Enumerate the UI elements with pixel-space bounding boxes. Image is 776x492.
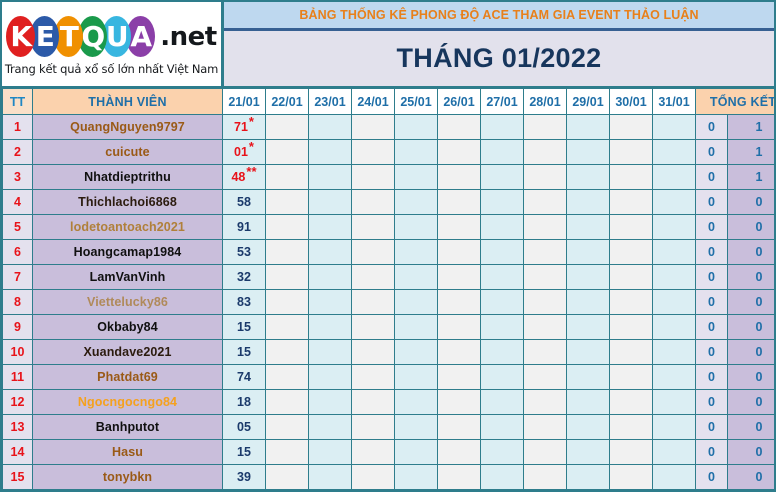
day-cell-9[interactable] (567, 215, 610, 240)
day-cell-8[interactable] (524, 290, 567, 315)
total-primary: 1 (728, 140, 776, 165)
day-cell-4[interactable] (352, 165, 395, 190)
day-cell-11[interactable] (653, 365, 696, 390)
day-cell-9[interactable] (567, 165, 610, 190)
day-cell-3[interactable] (309, 340, 352, 365)
day-cell-10[interactable] (610, 390, 653, 415)
day-cell-5[interactable] (395, 215, 438, 240)
day-cell-5[interactable] (395, 115, 438, 140)
header-day-5[interactable]: 25/01 (395, 89, 438, 115)
table-row: 8Viettelucky868300 (3, 290, 776, 315)
header-day-4[interactable]: 24/01 (352, 89, 395, 115)
day-cell-5[interactable] (395, 465, 438, 490)
stats-table: TT THÀNH VIÊN 21/0122/0123/0124/0125/012… (2, 88, 776, 490)
member-name[interactable]: Hasu (33, 440, 223, 465)
day-cell-7[interactable] (481, 340, 524, 365)
day-cell-4[interactable] (352, 115, 395, 140)
day-cell-6[interactable] (438, 240, 481, 265)
site-logo[interactable]: KETQUA.net Trang kết quả xổ số lớn nhất … (2, 2, 224, 86)
day-cell-10[interactable] (610, 215, 653, 240)
total-secondary: 0 (696, 140, 728, 165)
day-cell-9[interactable] (567, 465, 610, 490)
day-cell-6[interactable] (438, 465, 481, 490)
day-cell-9[interactable] (567, 315, 610, 340)
day-cell-6[interactable] (438, 165, 481, 190)
day-cell-5[interactable] (395, 240, 438, 265)
day-cell-2[interactable] (266, 415, 309, 440)
total-secondary: 0 (696, 240, 728, 265)
day-cell-6[interactable] (438, 365, 481, 390)
day-cell-3[interactable] (309, 165, 352, 190)
logo-letter-glyph: T (60, 23, 78, 51)
total-primary: 0 (728, 315, 776, 340)
table-body: 1QuangNguyen979771*012cuicute01*013Nhatd… (3, 115, 776, 490)
day-cell-2[interactable] (266, 440, 309, 465)
day-cell-6[interactable] (438, 215, 481, 240)
day-cell-5[interactable] (395, 290, 438, 315)
day-cell-6[interactable] (438, 390, 481, 415)
table-row: 4Thichlachoi68685800 (3, 190, 776, 215)
day-cell-1[interactable]: 83 (223, 290, 266, 315)
day-cell-11[interactable] (653, 215, 696, 240)
day-cell-9[interactable] (567, 190, 610, 215)
day-cell-2[interactable] (266, 215, 309, 240)
day-cell-5[interactable] (395, 340, 438, 365)
table-row: 12Ngocngocngo841800 (3, 390, 776, 415)
day-cell-8[interactable] (524, 240, 567, 265)
day-cell-4[interactable] (352, 290, 395, 315)
day-cell-10[interactable] (610, 265, 653, 290)
header-day-11[interactable]: 31/01 (653, 89, 696, 115)
day-cell-10[interactable] (610, 415, 653, 440)
day-cell-1[interactable]: 01* (223, 140, 266, 165)
total-primary: 0 (728, 340, 776, 365)
header-day-10[interactable]: 30/01 (610, 89, 653, 115)
member-name[interactable]: QuangNguyen9797 (33, 115, 223, 140)
stats-page: KETQUA.net Trang kết quả xổ số lớn nhất … (0, 0, 776, 492)
day-cell-1[interactable]: 58 (223, 190, 266, 215)
day-cell-5[interactable] (395, 315, 438, 340)
day-cell-11[interactable] (653, 190, 696, 215)
member-name[interactable]: cuicute (33, 140, 223, 165)
member-name[interactable]: tonybkn (33, 465, 223, 490)
day-cell-10[interactable] (610, 140, 653, 165)
logo-letter-glyph: Q (81, 23, 104, 51)
day-cell-2[interactable] (266, 115, 309, 140)
day-cell-11[interactable] (653, 165, 696, 190)
day-cell-11[interactable] (653, 265, 696, 290)
row-index: 14 (3, 440, 33, 465)
day-cell-8[interactable] (524, 315, 567, 340)
total-secondary: 0 (696, 465, 728, 490)
day-cell-7[interactable] (481, 440, 524, 465)
day-cell-5[interactable] (395, 190, 438, 215)
total-primary: 1 (728, 165, 776, 190)
day-cell-3[interactable] (309, 290, 352, 315)
day-cell-1[interactable]: 74 (223, 365, 266, 390)
header-day-7[interactable]: 27/01 (481, 89, 524, 115)
day-cell-6[interactable] (438, 315, 481, 340)
day-cell-10[interactable] (610, 290, 653, 315)
day-cell-9[interactable] (567, 365, 610, 390)
day-cell-6[interactable] (438, 440, 481, 465)
day-cell-1[interactable]: 15 (223, 340, 266, 365)
day-cell-8[interactable] (524, 440, 567, 465)
day-cell-4[interactable] (352, 215, 395, 240)
day-cell-7[interactable] (481, 140, 524, 165)
total-secondary: 0 (696, 115, 728, 140)
day-cell-9[interactable] (567, 265, 610, 290)
logo-wordmark: KETQUA.net (6, 15, 216, 59)
day-cell-2[interactable] (266, 365, 309, 390)
member-name[interactable]: Viettelucky86 (33, 290, 223, 315)
total-primary: 0 (728, 265, 776, 290)
day-cell-1[interactable]: 71* (223, 115, 266, 140)
day-cell-5[interactable] (395, 365, 438, 390)
day-cell-10[interactable] (610, 365, 653, 390)
day-cell-3[interactable] (309, 365, 352, 390)
day-cell-2[interactable] (266, 240, 309, 265)
table-row: 2cuicute01*01 (3, 140, 776, 165)
row-index: 12 (3, 390, 33, 415)
member-name[interactable]: Xuandave2021 (33, 340, 223, 365)
table-row: 3Nhatdieptrithu48**01 (3, 165, 776, 190)
day-cell-10[interactable] (610, 465, 653, 490)
header-day-6[interactable]: 26/01 (438, 89, 481, 115)
day-cell-3[interactable] (309, 415, 352, 440)
table-header: TT THÀNH VIÊN 21/0122/0123/0124/0125/012… (3, 89, 776, 115)
member-name[interactable]: LamVanVinh (33, 265, 223, 290)
total-primary: 0 (728, 390, 776, 415)
day-cell-1[interactable]: 91 (223, 215, 266, 240)
banner-title: BẢNG THỐNG KÊ PHONG ĐỘ ACE THAM GIA EVEN… (224, 2, 774, 31)
day-cell-1[interactable]: 48** (223, 165, 266, 190)
total-primary: 0 (728, 440, 776, 465)
day-cell-2[interactable] (266, 165, 309, 190)
day-cell-8[interactable] (524, 140, 567, 165)
day-cell-2[interactable] (266, 465, 309, 490)
header-tt[interactable]: TT (3, 89, 33, 115)
day-cell-4[interactable] (352, 265, 395, 290)
row-index: 8 (3, 290, 33, 315)
day-cell-9[interactable] (567, 340, 610, 365)
day-cell-1[interactable]: 53 (223, 240, 266, 265)
header-total[interactable]: TỔNG KẾT (696, 89, 776, 115)
day-cell-3[interactable] (309, 390, 352, 415)
logo-letter-glyph: E (36, 23, 54, 51)
star-marker: * (249, 140, 254, 154)
row-index: 6 (3, 240, 33, 265)
day-cell-6[interactable] (438, 340, 481, 365)
row-index: 5 (3, 215, 33, 240)
day-cell-4[interactable] (352, 315, 395, 340)
total-secondary: 0 (696, 290, 728, 315)
total-secondary: 0 (696, 190, 728, 215)
total-primary: 0 (728, 465, 776, 490)
day-cell-9[interactable] (567, 390, 610, 415)
day-cell-2[interactable] (266, 290, 309, 315)
total-secondary: 0 (696, 340, 728, 365)
day-cell-11[interactable] (653, 390, 696, 415)
day-cell-2[interactable] (266, 140, 309, 165)
day-cell-5[interactable] (395, 415, 438, 440)
logo-letter-k: K (6, 16, 35, 57)
day-cell-1[interactable]: 15 (223, 440, 266, 465)
day-cell-6[interactable] (438, 190, 481, 215)
day-cell-9[interactable] (567, 240, 610, 265)
day-cell-6[interactable] (438, 115, 481, 140)
member-name[interactable]: Banhputot (33, 415, 223, 440)
day-cell-3[interactable] (309, 190, 352, 215)
row-index: 13 (3, 415, 33, 440)
table-row: 14Hasu1500 (3, 440, 776, 465)
row-index: 1 (3, 115, 33, 140)
day-cell-4[interactable] (352, 415, 395, 440)
total-secondary: 0 (696, 315, 728, 340)
day-cell-2[interactable] (266, 340, 309, 365)
day-cell-8[interactable] (524, 390, 567, 415)
day-cell-5[interactable] (395, 265, 438, 290)
table-row: 1QuangNguyen979771*01 (3, 115, 776, 140)
day-cell-7[interactable] (481, 390, 524, 415)
member-name[interactable]: Hoangcamap1984 (33, 240, 223, 265)
table-row: 6Hoangcamap19845300 (3, 240, 776, 265)
row-index: 2 (3, 140, 33, 165)
header-day-1[interactable]: 21/01 (223, 89, 266, 115)
logo-letter-glyph: K (10, 23, 31, 51)
day-cell-8[interactable] (524, 465, 567, 490)
header-day-8[interactable]: 28/01 (524, 89, 567, 115)
total-secondary: 0 (696, 165, 728, 190)
total-primary: 1 (728, 115, 776, 140)
table-row: 11Phatdat697400 (3, 365, 776, 390)
day-cell-5[interactable] (395, 390, 438, 415)
day-cell-2[interactable] (266, 265, 309, 290)
day-cell-4[interactable] (352, 340, 395, 365)
member-name[interactable]: lodetoantoach2021 (33, 215, 223, 240)
header-day-9[interactable]: 29/01 (567, 89, 610, 115)
total-primary: 0 (728, 190, 776, 215)
table-row: 7LamVanVinh3200 (3, 265, 776, 290)
day-cell-11[interactable] (653, 115, 696, 140)
day-cell-9[interactable] (567, 115, 610, 140)
day-cell-11[interactable] (653, 240, 696, 265)
total-secondary: 0 (696, 390, 728, 415)
day-cell-10[interactable] (610, 440, 653, 465)
day-cell-7[interactable] (481, 240, 524, 265)
day-cell-11[interactable] (653, 465, 696, 490)
day-cell-6[interactable] (438, 415, 481, 440)
member-name[interactable]: Thichlachoi6868 (33, 190, 223, 215)
day-cell-10[interactable] (610, 190, 653, 215)
day-cell-5[interactable] (395, 165, 438, 190)
day-cell-7[interactable] (481, 265, 524, 290)
total-secondary: 0 (696, 440, 728, 465)
day-cell-7[interactable] (481, 465, 524, 490)
day-cell-3[interactable] (309, 265, 352, 290)
day-cell-10[interactable] (610, 315, 653, 340)
total-secondary: 0 (696, 415, 728, 440)
table-row: 13Banhputot0500 (3, 415, 776, 440)
day-cell-4[interactable] (352, 465, 395, 490)
total-primary: 0 (728, 240, 776, 265)
day-cell-8[interactable] (524, 115, 567, 140)
day-cell-8[interactable] (524, 415, 567, 440)
day-cell-3[interactable] (309, 440, 352, 465)
day-cell-10[interactable] (610, 115, 653, 140)
day-cell-4[interactable] (352, 140, 395, 165)
header-name[interactable]: THÀNH VIÊN (33, 89, 223, 115)
member-name[interactable]: Ngocngocngo84 (33, 390, 223, 415)
day-cell-2[interactable] (266, 190, 309, 215)
row-index: 15 (3, 465, 33, 490)
day-cell-7[interactable] (481, 165, 524, 190)
day-cell-9[interactable] (567, 415, 610, 440)
day-cell-8[interactable] (524, 165, 567, 190)
day-cell-7[interactable] (481, 215, 524, 240)
day-cell-4[interactable] (352, 365, 395, 390)
day-cell-3[interactable] (309, 315, 352, 340)
total-secondary: 0 (696, 365, 728, 390)
day-cell-2[interactable] (266, 390, 309, 415)
day-cell-1[interactable]: 32 (223, 265, 266, 290)
day-cell-9[interactable] (567, 140, 610, 165)
header-day-2[interactable]: 22/01 (266, 89, 309, 115)
total-primary: 0 (728, 415, 776, 440)
logo-tagline: Trang kết quả xổ số lớn nhất Việt Nam (5, 62, 218, 76)
header-day-3[interactable]: 23/01 (309, 89, 352, 115)
table-row: 5lodetoantoach20219100 (3, 215, 776, 240)
day-cell-2[interactable] (266, 315, 309, 340)
day-cell-3[interactable] (309, 115, 352, 140)
row-index: 9 (3, 315, 33, 340)
total-secondary: 0 (696, 265, 728, 290)
day-cell-9[interactable] (567, 440, 610, 465)
day-cell-9[interactable] (567, 290, 610, 315)
day-cell-3[interactable] (309, 215, 352, 240)
day-cell-7[interactable] (481, 415, 524, 440)
day-cell-1[interactable]: 05 (223, 415, 266, 440)
day-cell-8[interactable] (524, 190, 567, 215)
day-cell-6[interactable] (438, 265, 481, 290)
header-row: TT THÀNH VIÊN 21/0122/0123/0124/0125/012… (3, 89, 776, 115)
member-name[interactable]: Okbaby84 (33, 315, 223, 340)
day-cell-11[interactable] (653, 415, 696, 440)
banner-text-area: BẢNG THỐNG KÊ PHONG ĐỘ ACE THAM GIA EVEN… (224, 2, 774, 86)
logo-letter-glyph: A (130, 23, 151, 51)
day-cell-11[interactable] (653, 315, 696, 340)
day-cell-7[interactable] (481, 315, 524, 340)
day-cell-3[interactable] (309, 240, 352, 265)
table-row: 9Okbaby841500 (3, 315, 776, 340)
logo-letter-glyph: U (106, 23, 128, 51)
day-cell-7[interactable] (481, 115, 524, 140)
row-index: 7 (3, 265, 33, 290)
day-cell-11[interactable] (653, 140, 696, 165)
day-cell-1[interactable]: 15 (223, 315, 266, 340)
star-marker: ** (246, 165, 256, 179)
day-cell-11[interactable] (653, 290, 696, 315)
day-cell-11[interactable] (653, 340, 696, 365)
day-cell-6[interactable] (438, 140, 481, 165)
table-row: 15tonybkn3900 (3, 465, 776, 490)
star-marker: * (249, 115, 254, 129)
day-cell-4[interactable] (352, 240, 395, 265)
day-cell-11[interactable] (653, 440, 696, 465)
day-cell-4[interactable] (352, 390, 395, 415)
logo-suffix: .net (160, 22, 216, 52)
row-index: 3 (3, 165, 33, 190)
day-cell-1[interactable]: 18 (223, 390, 266, 415)
total-secondary: 0 (696, 215, 728, 240)
row-index: 10 (3, 340, 33, 365)
total-primary: 0 (728, 215, 776, 240)
table-row: 10Xuandave20211500 (3, 340, 776, 365)
day-cell-10[interactable] (610, 240, 653, 265)
member-name[interactable]: Phatdat69 (33, 365, 223, 390)
day-cell-8[interactable] (524, 340, 567, 365)
member-name[interactable]: Nhatdieptrithu (33, 165, 223, 190)
day-cell-5[interactable] (395, 140, 438, 165)
day-cell-10[interactable] (610, 165, 653, 190)
day-cell-3[interactable] (309, 140, 352, 165)
day-cell-5[interactable] (395, 440, 438, 465)
day-cell-6[interactable] (438, 290, 481, 315)
row-index: 11 (3, 365, 33, 390)
day-cell-7[interactable] (481, 290, 524, 315)
banner-month: THÁNG 01/2022 (224, 31, 774, 86)
day-cell-4[interactable] (352, 440, 395, 465)
day-cell-7[interactable] (481, 365, 524, 390)
day-cell-8[interactable] (524, 215, 567, 240)
day-cell-1[interactable]: 39 (223, 465, 266, 490)
day-cell-8[interactable] (524, 365, 567, 390)
page-banner: KETQUA.net Trang kết quả xổ số lớn nhất … (2, 2, 774, 88)
day-cell-10[interactable] (610, 340, 653, 365)
day-cell-7[interactable] (481, 190, 524, 215)
day-cell-3[interactable] (309, 465, 352, 490)
row-index: 4 (3, 190, 33, 215)
day-cell-8[interactable] (524, 265, 567, 290)
total-primary: 0 (728, 365, 776, 390)
total-primary: 0 (728, 290, 776, 315)
day-cell-4[interactable] (352, 190, 395, 215)
